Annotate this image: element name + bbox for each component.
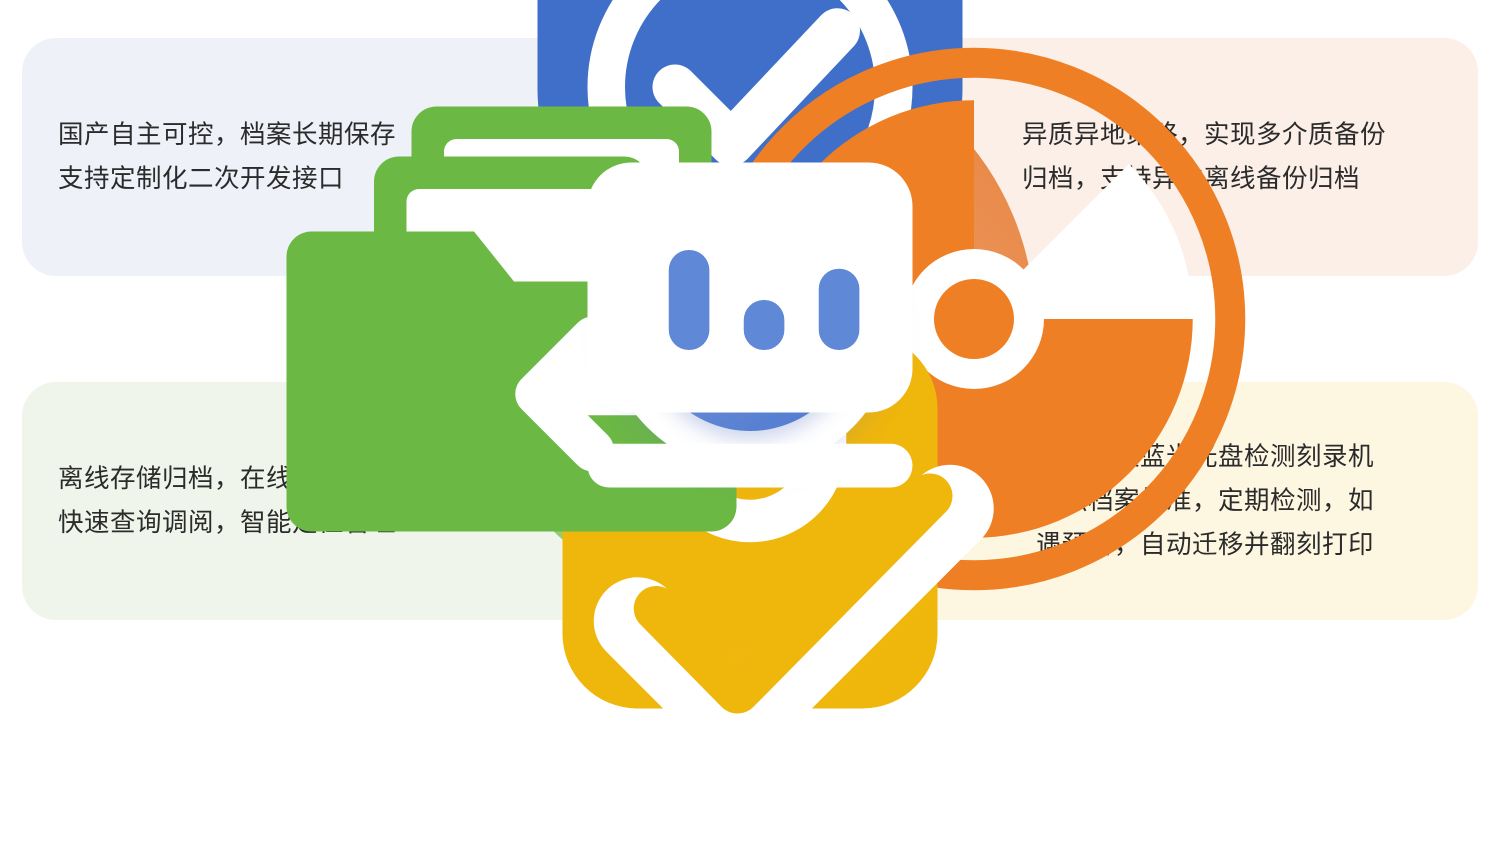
wheel-hub xyxy=(605,180,895,470)
wheel-hub-inner xyxy=(644,219,856,431)
infographic-canvas: 国产自主可控，档案长期保存 支持定制化二次开发接口 异质异地策略，实现多介质备份… xyxy=(0,0,1500,650)
dashboard-monitor-icon xyxy=(450,25,1050,625)
process-wheel: 国产自主 异质备份 定期检测 归档管理 xyxy=(450,25,1050,625)
